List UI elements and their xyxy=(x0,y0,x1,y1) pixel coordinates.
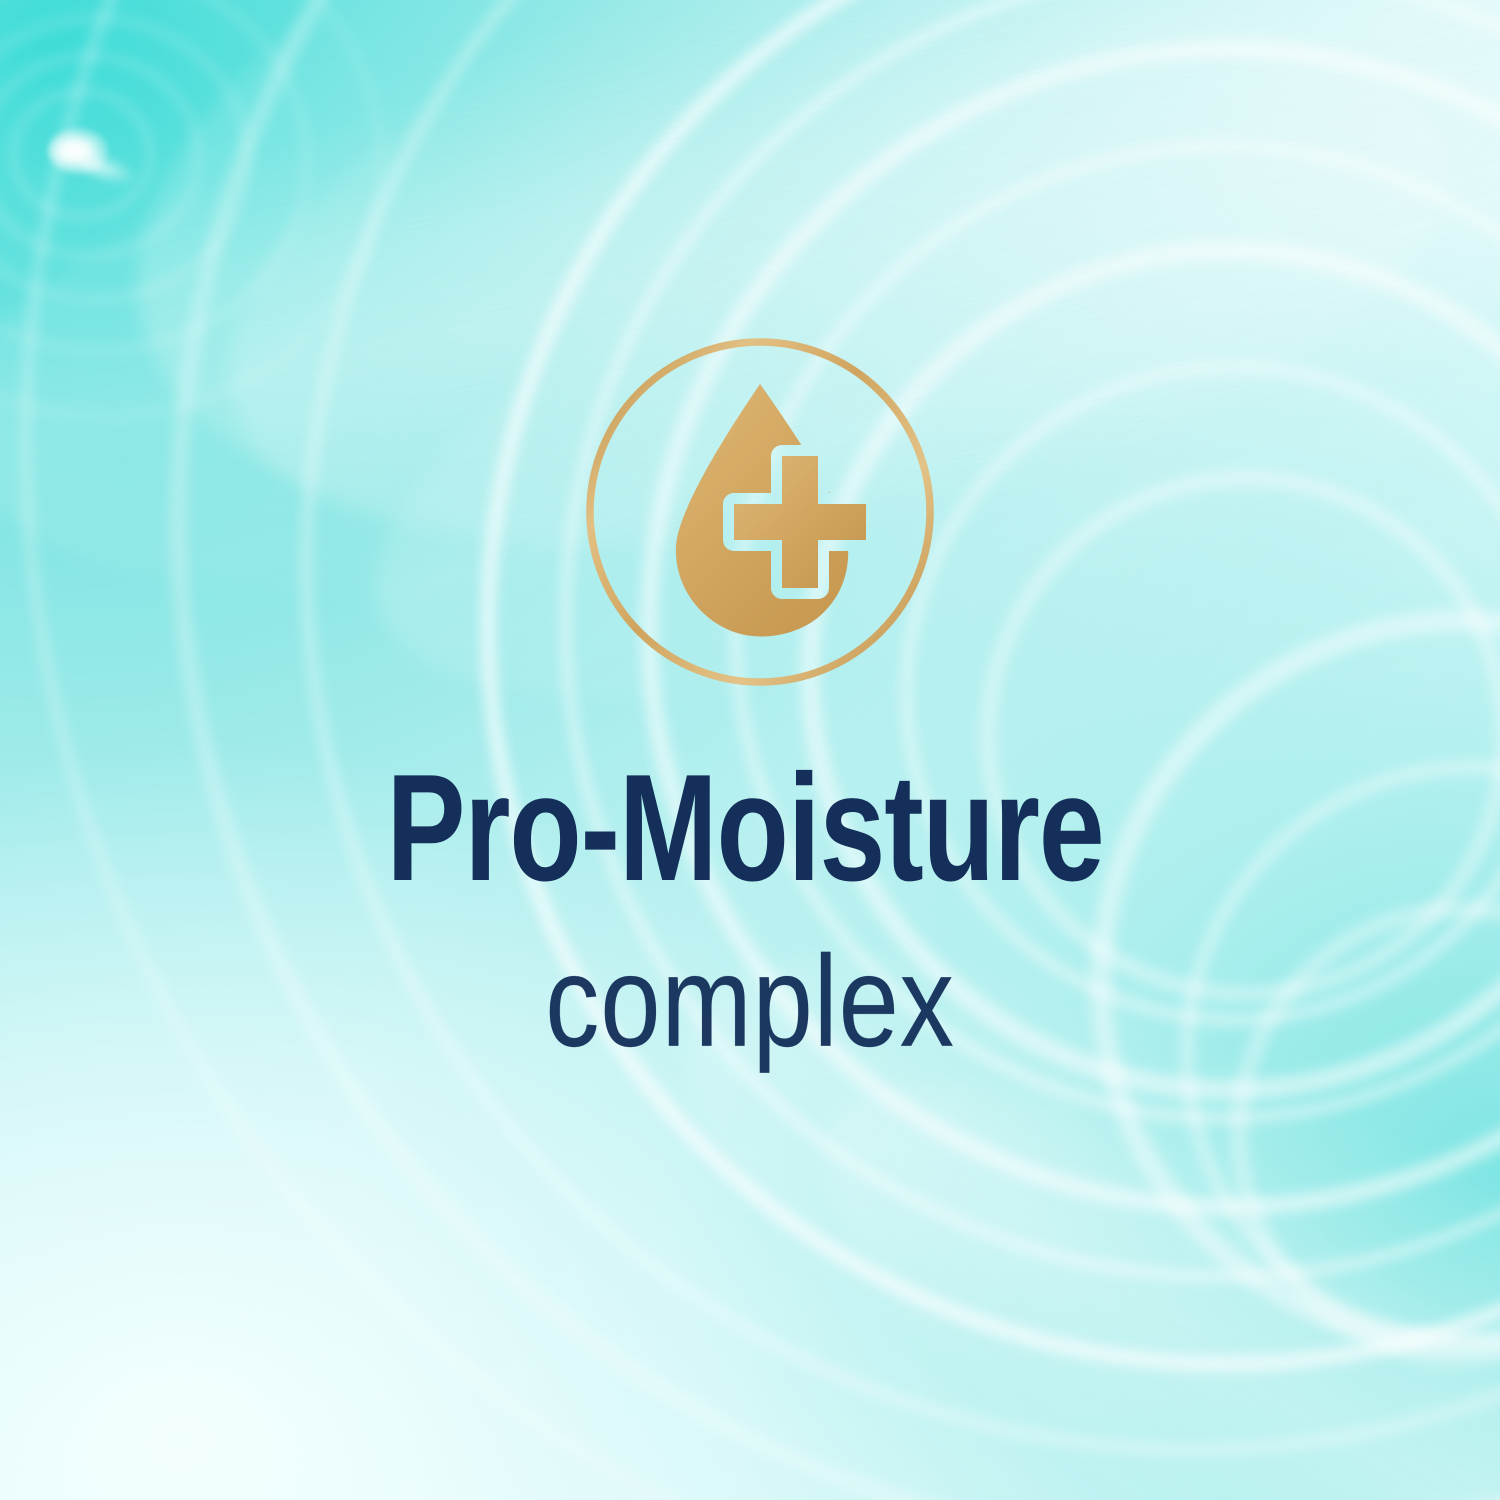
water-splash-tail xyxy=(76,150,136,188)
water-splash-icon xyxy=(48,128,108,174)
page-subtitle: complex xyxy=(105,902,1395,1067)
page-title: Pro-Moisture xyxy=(160,752,1330,904)
marketing-graphic-canvas: Pro-Moisture complex xyxy=(0,0,1500,1500)
headline-block: Pro-Moisture complex xyxy=(0,752,1500,1064)
pro-moisture-emblem xyxy=(586,338,934,686)
